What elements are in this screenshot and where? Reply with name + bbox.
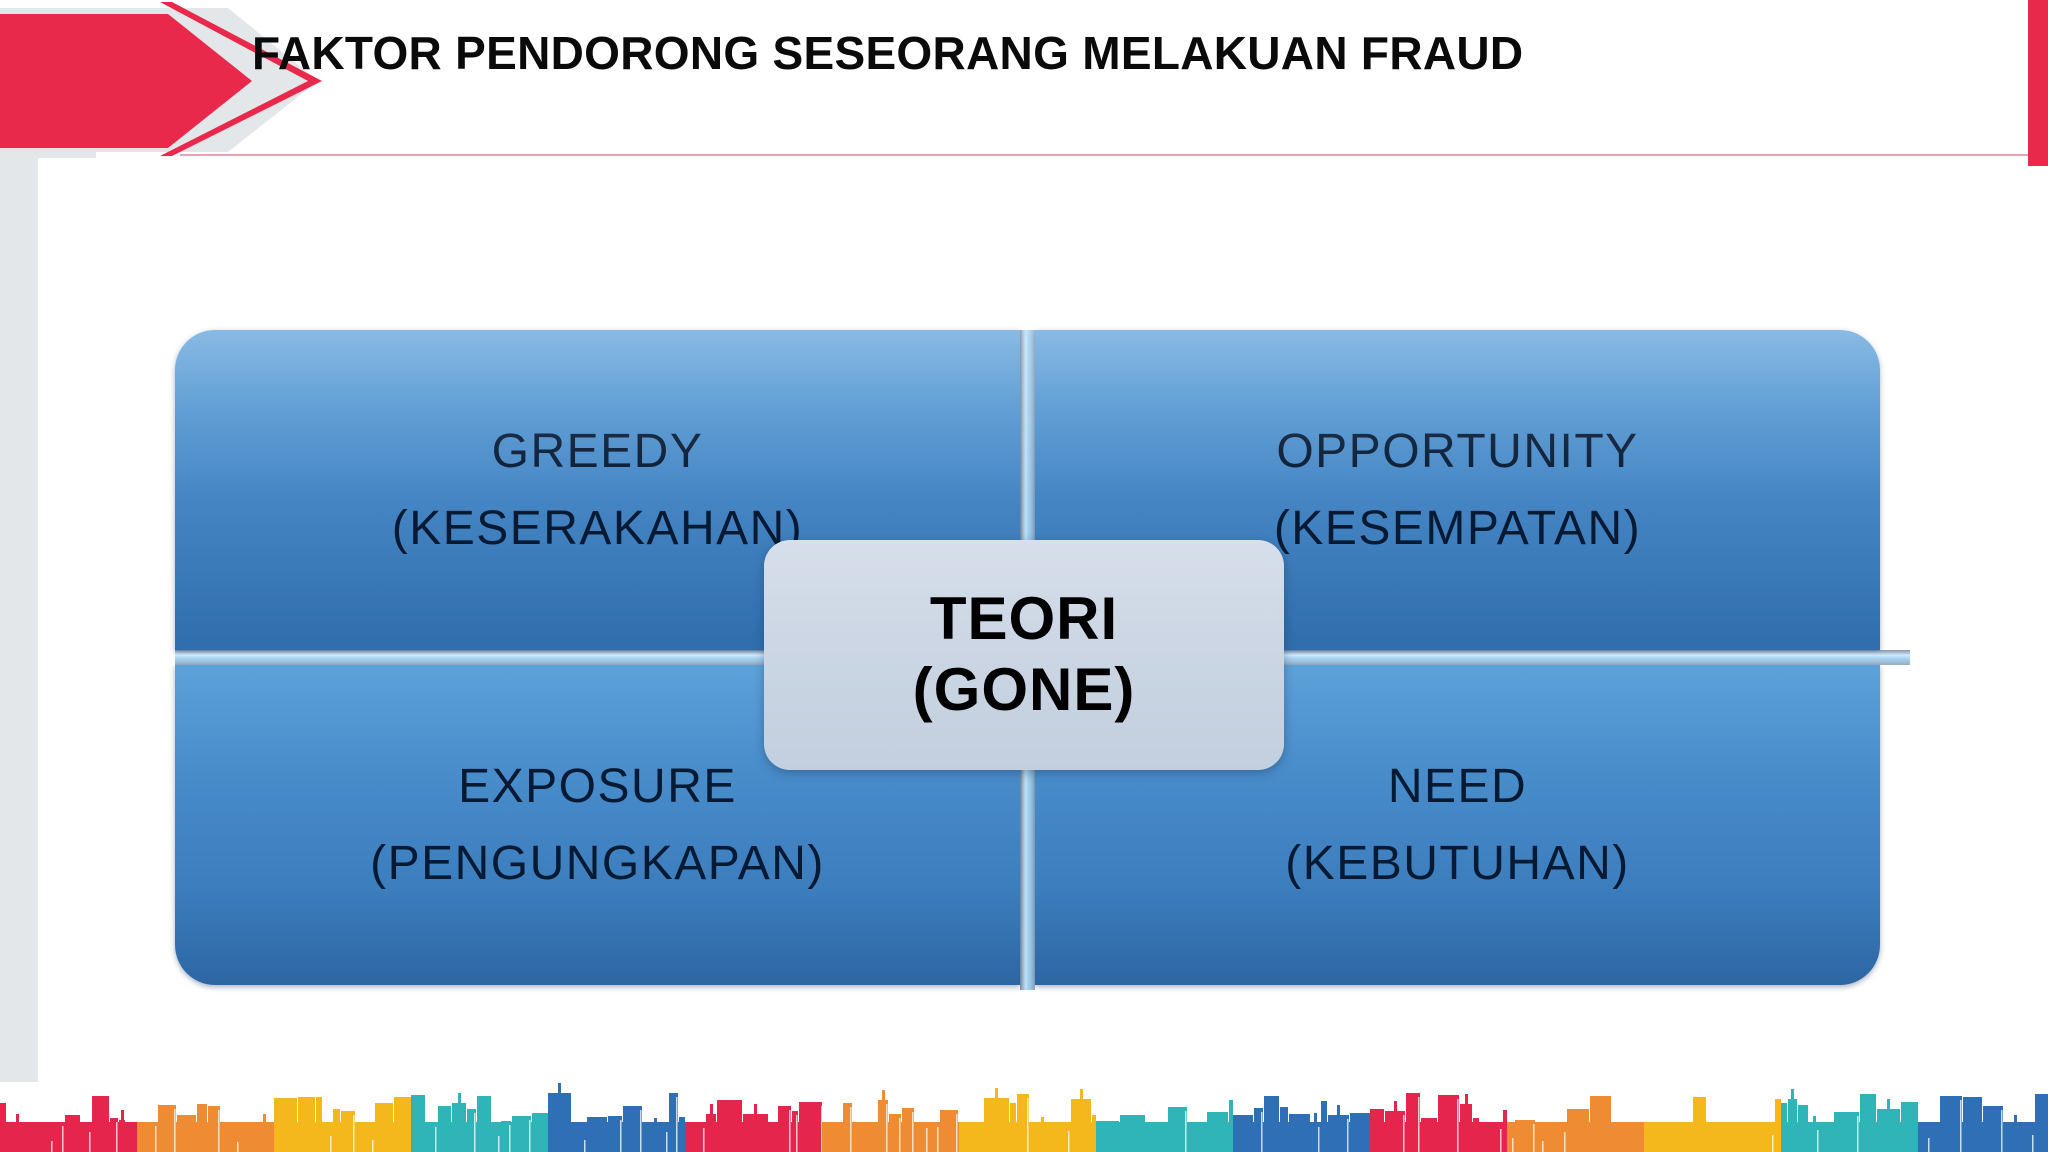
skyline-segment	[137, 1082, 274, 1152]
quadrant-greedy-subtitle: (KESERAKAHAN)	[392, 498, 804, 559]
quadrant-opportunity-subtitle: (KESEMPATAN)	[1274, 498, 1641, 559]
skyline-segment	[685, 1082, 822, 1152]
city-skyline-decoration	[0, 1082, 2048, 1152]
header-divider-rule	[180, 154, 2040, 156]
skyline-segment	[274, 1082, 411, 1152]
quadrant-need-subtitle: (KEBUTUHAN)	[1285, 833, 1630, 894]
skyline-segment	[1370, 1082, 1507, 1152]
skyline-segment	[1507, 1082, 1644, 1152]
quadrant-exposure-title: EXPOSURE	[458, 756, 737, 817]
skyline-segment	[1644, 1082, 1781, 1152]
page-title: FAKTOR PENDORONG SESEORANG MELAKUAN FRAU…	[252, 26, 1523, 80]
skyline-segment	[548, 1082, 685, 1152]
center-label-teori-gone[interactable]: TEORI (GONE)	[764, 540, 1284, 770]
quadrant-need-title: NEED	[1388, 756, 1527, 817]
skyline-segment	[959, 1082, 1096, 1152]
center-label-line2: (GONE)	[913, 658, 1136, 723]
skyline-segment	[1096, 1082, 1233, 1152]
skyline-segment	[1918, 1082, 2048, 1152]
quadrant-greedy-title: GREEDY	[492, 421, 704, 482]
center-label-line1: TEORI	[930, 587, 1118, 652]
skyline-segment	[1233, 1082, 1370, 1152]
left-margin-strip	[0, 156, 38, 1086]
page-header: FAKTOR PENDORONG SESEORANG MELAKUAN FRAU…	[0, 0, 2048, 158]
skyline-segment	[411, 1082, 548, 1152]
quadrant-opportunity-title: OPPORTUNITY	[1276, 421, 1638, 482]
skyline-segment	[822, 1082, 959, 1152]
quadrant-exposure-subtitle: (PENGUNGKAPAN)	[370, 833, 825, 894]
header-right-accent-bar	[2028, 0, 2048, 166]
skyline-segment	[1781, 1082, 1918, 1152]
skyline-segment	[0, 1082, 137, 1152]
